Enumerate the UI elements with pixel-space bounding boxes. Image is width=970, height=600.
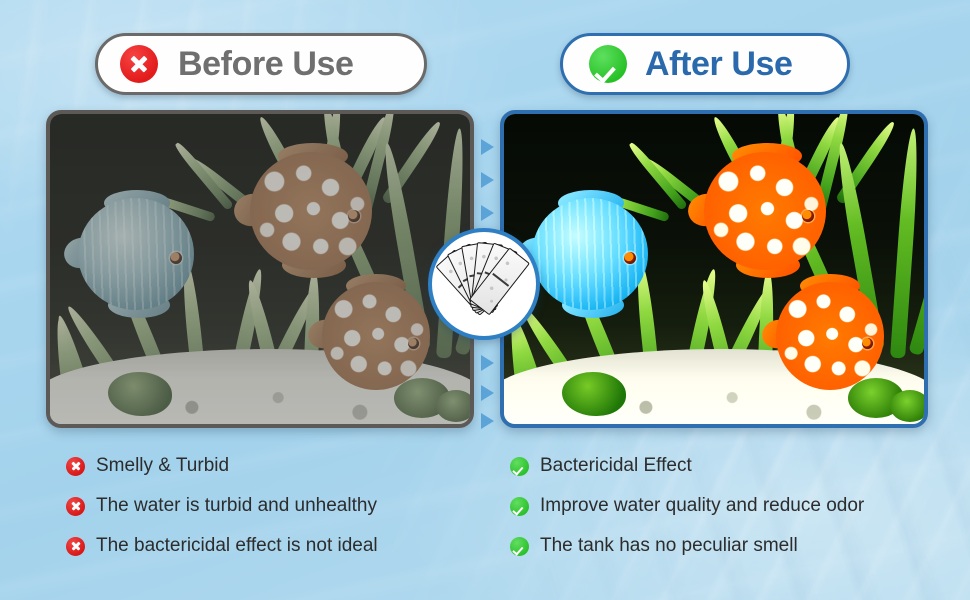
before-bullet-list: Smelly & Turbid The water is turbid and … xyxy=(66,446,378,566)
list-item-label: The tank has no peculiar smell xyxy=(540,535,798,557)
list-item-label: The water is turbid and unhealthy xyxy=(96,495,377,517)
moss-clump xyxy=(562,372,626,416)
check-circle-icon xyxy=(510,457,529,476)
moss-clump xyxy=(108,372,172,416)
check-circle-icon xyxy=(510,497,529,516)
aquarium-scene-before xyxy=(50,114,470,424)
x-circle-icon xyxy=(120,45,158,83)
blue-discus-fish xyxy=(532,198,648,310)
list-item: Improve water quality and reduce odor xyxy=(510,486,864,526)
before-photo xyxy=(46,110,474,428)
list-item: The tank has no peculiar smell xyxy=(510,526,864,566)
list-item: The water is turbid and unhealthy xyxy=(66,486,378,526)
check-circle-icon xyxy=(589,45,627,83)
list-item: The bactericidal effect is not ideal xyxy=(66,526,378,566)
list-item-label: The bactericidal effect is not ideal xyxy=(96,535,378,557)
fish-eye xyxy=(348,210,360,222)
x-circle-icon xyxy=(66,457,85,476)
list-item: Bactericidal Effect xyxy=(510,446,864,486)
list-item: Smelly & Turbid xyxy=(66,446,378,486)
before-use-label: Before Use xyxy=(178,45,354,84)
chevron-right-icon xyxy=(481,172,494,188)
blue-discus-fish xyxy=(78,198,194,310)
list-item-label: Smelly & Turbid xyxy=(96,455,229,477)
orange-discus-fish-bottom xyxy=(776,282,884,390)
chevron-right-icon xyxy=(481,385,494,401)
after-use-badge: After Use xyxy=(560,33,850,95)
check-circle-icon xyxy=(510,537,529,556)
plant-bush xyxy=(436,390,474,422)
x-circle-icon xyxy=(66,537,85,556)
fish-eye xyxy=(802,210,814,222)
fish-body xyxy=(776,282,884,390)
aquarium-scene-after xyxy=(504,114,924,424)
chevron-right-icon xyxy=(481,205,494,221)
orange-discus-fish-top xyxy=(250,152,372,270)
fish-eye xyxy=(408,338,419,349)
after-photo xyxy=(500,110,928,428)
fish-eye xyxy=(170,252,182,264)
fish-body xyxy=(322,282,430,390)
product-circle-badge xyxy=(428,228,540,340)
fish-eye xyxy=(862,338,873,349)
chevron-right-icon xyxy=(481,413,494,429)
list-item-label: Improve water quality and reduce odor xyxy=(540,495,864,517)
orange-discus-fish-top xyxy=(704,152,826,270)
fish-eye xyxy=(624,252,636,264)
list-item-label: Bactericidal Effect xyxy=(540,455,692,477)
plant-bush xyxy=(890,390,928,422)
chevron-right-icon xyxy=(481,355,494,371)
after-bullet-list: Bactericidal Effect Improve water qualit… xyxy=(510,446,864,566)
chevron-right-icon xyxy=(481,139,494,155)
after-use-label: After Use xyxy=(645,45,793,84)
x-circle-icon xyxy=(66,497,85,516)
before-use-badge: Before Use xyxy=(95,33,427,95)
orange-discus-fish-bottom xyxy=(322,282,430,390)
